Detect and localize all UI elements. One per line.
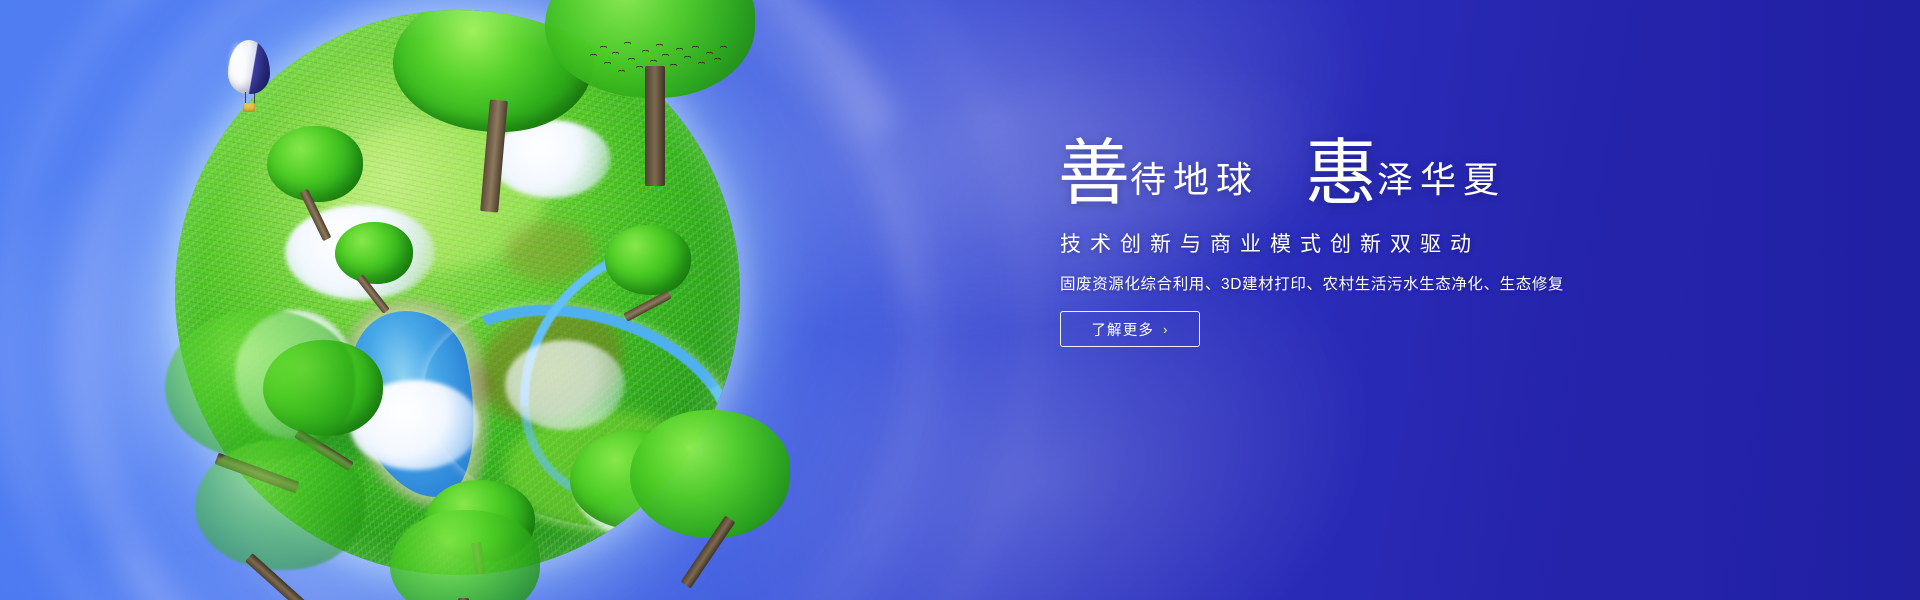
soil-patch: [461, 288, 640, 443]
cloud-icon: [350, 380, 480, 470]
page-title: 善待地球惠泽华夏: [1058, 138, 1506, 210]
headline-rest-2: 泽华夏: [1377, 160, 1506, 200]
soil-patch: [505, 222, 595, 282]
headline-lead-char-2: 惠: [1305, 134, 1377, 214]
soil-patch: [415, 357, 495, 421]
hero-banner: 善待地球惠泽华夏 技术创新与商业模式创新双驱动 固废资源化综合利用、3D建材打印…: [0, 0, 1920, 600]
hero-subtitle: 技术创新与商业模式创新双驱动: [1060, 228, 1480, 258]
cloud-icon: [491, 120, 611, 198]
learn-more-label: 了解更多: [1091, 319, 1154, 340]
hero-description: 固废资源化综合利用、3D建材打印、农村生活污水生态净化、生态修复: [1060, 272, 1564, 294]
hot-air-balloon-icon: [228, 40, 270, 116]
headline-lead-char-1: 善: [1058, 134, 1130, 214]
meadow-patch: [325, 120, 545, 270]
balloon-basket: [243, 103, 255, 112]
cloud-icon: [285, 205, 435, 300]
learn-more-button[interactable]: 了解更多 ›: [1060, 311, 1200, 347]
birds-flock-icon: [588, 40, 728, 88]
balloon-envelope: [228, 40, 270, 94]
cloud-icon: [505, 340, 625, 430]
headline-rest-1: 待地球: [1130, 160, 1259, 200]
hero-content: 善待地球惠泽华夏 技术创新与商业模式创新双驱动 固废资源化综合利用、3D建材打印…: [1058, 0, 1758, 600]
chevron-right-icon: ›: [1163, 323, 1169, 336]
